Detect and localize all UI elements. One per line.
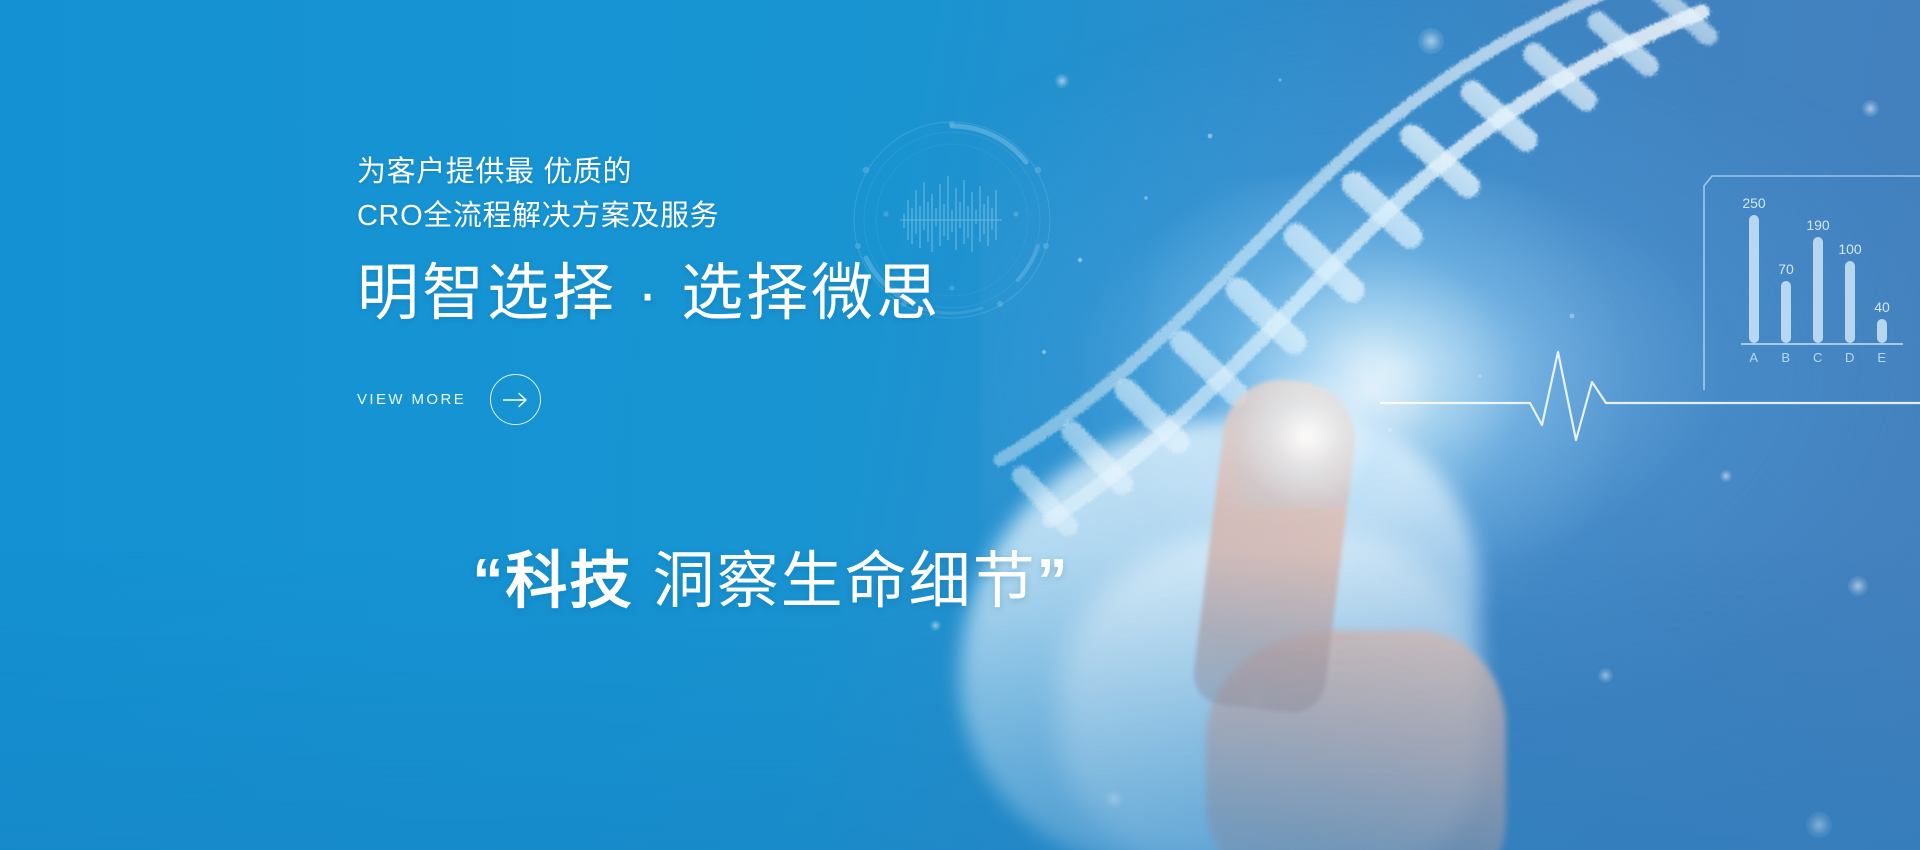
bar-value-B: 70	[1778, 261, 1794, 277]
ecg-heartbeat-line	[1380, 330, 1920, 490]
hero-subtitle: 为客户提供最 优质的 CRO全流程解决方案及服务	[357, 150, 1117, 238]
quote-light-text: 洞察生命细节	[633, 547, 1036, 616]
quote-strong-text: 科技	[505, 547, 633, 616]
bar-value-D: 100	[1838, 241, 1862, 257]
view-more-button[interactable]: VIEW MORE	[357, 374, 541, 425]
view-more-label: VIEW MORE	[357, 391, 466, 408]
bar-A	[1749, 215, 1759, 343]
hero-quote: “科技 洞察生命细节”	[357, 477, 1117, 685]
chart-bars	[1749, 215, 1887, 343]
subtitle-line-2: CRO全流程解决方案及服务	[357, 194, 1117, 238]
quote-open-mark: “	[472, 547, 505, 616]
arrow-right-icon[interactable]	[490, 374, 541, 425]
fingertip-glow	[1212, 338, 1402, 508]
bar-value-A: 250	[1742, 195, 1766, 211]
bar-C	[1813, 237, 1823, 343]
hero-headline: 明智选择 · 选择微思	[357, 260, 1117, 328]
hero-content: 为客户提供最 优质的 CRO全流程解决方案及服务 明智选择 · 选择微思 VIE…	[357, 150, 1117, 686]
bar-value-E: 40	[1874, 299, 1890, 315]
hero-banner: 250 70 190 100 40 A B C D E 为客户提供最 优质的	[0, 0, 1920, 850]
bar-value-C: 190	[1806, 217, 1830, 233]
subtitle-line-1: 为客户提供最 优质的	[357, 150, 1117, 194]
quote-close-mark: ”	[1037, 547, 1070, 616]
